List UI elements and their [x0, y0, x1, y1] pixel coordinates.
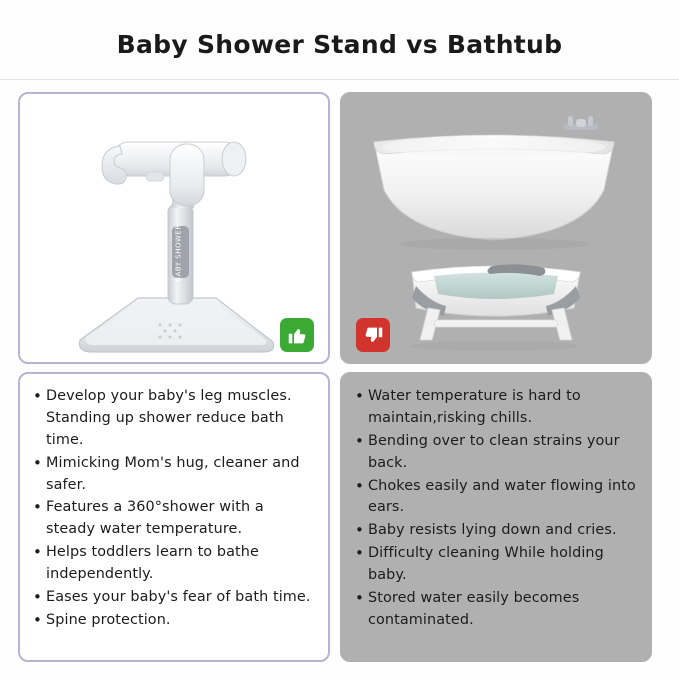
list-item: Water temperature is hard to maintain,ri… [354, 386, 638, 430]
list-item: Spine protection. [32, 610, 316, 632]
list-item: Eases your baby's fear of bath time. [32, 587, 316, 609]
list-item: Develop your baby's leg muscles. Standin… [32, 386, 316, 452]
comparison-columns: BABY SHOWER [0, 80, 679, 662]
column-shower-stand: BABY SHOWER [18, 92, 330, 662]
list-item: Stored water easily becomes contaminated… [354, 588, 638, 632]
bathtub-bullet-list: Water temperature is hard to maintain,ri… [354, 386, 638, 632]
list-item: Mimicking Mom's hug, cleaner and safer. [32, 453, 316, 497]
list-item: Chokes easily and water flowing into ear… [354, 476, 638, 520]
list-item: Bending over to clean strains your back. [354, 431, 638, 475]
list-item: Difficulty cleaning While holding baby. [354, 543, 638, 587]
list-item: Baby resists lying down and cries. [354, 520, 638, 542]
list-item: Helps toddlers learn to bathe independen… [32, 542, 316, 586]
svg-text:BABY SHOWER: BABY SHOWER [175, 224, 183, 281]
bathtub-drawbacks-panel: Water temperature is hard to maintain,ri… [340, 372, 652, 662]
column-bathtub: Water temperature is hard to maintain,ri… [340, 92, 652, 662]
page-title: Baby Shower Stand vs Bathtub [0, 0, 679, 69]
shower-stand-benefits-panel: Develop your baby's leg muscles. Standin… [18, 372, 330, 662]
shower-stand-image-card: BABY SHOWER [18, 92, 330, 364]
list-item: Features a 360°shower with a steady wate… [32, 497, 316, 541]
thumbs-up-icon [280, 318, 314, 352]
bathtub-image-card [340, 92, 652, 364]
thumbs-down-icon [356, 318, 390, 352]
comparison-infographic: Baby Shower Stand vs Bathtub [0, 0, 679, 679]
shower-stand-bullet-list: Develop your baby's leg muscles. Standin… [32, 386, 316, 632]
